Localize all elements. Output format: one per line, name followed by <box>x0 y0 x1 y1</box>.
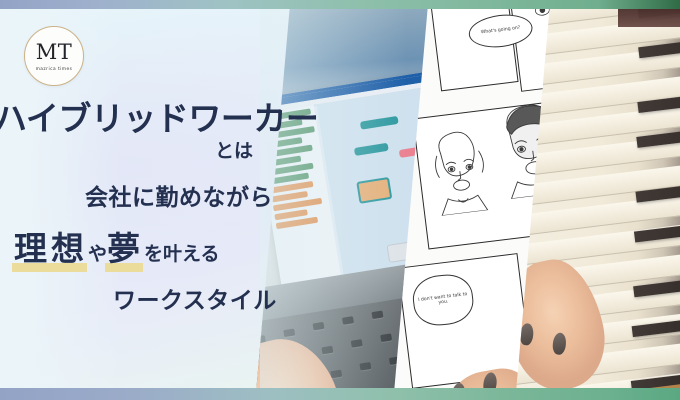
highlight-yume: 夢 <box>107 222 144 270</box>
page-title: ハイブリッドワーカー <box>0 92 324 140</box>
banner-canvas: What's going on? I don't want to talk to… <box>0 0 680 400</box>
page-title-suffix: とは <box>215 136 253 163</box>
subcopy-line-2: 理想や夢を叶える <box>14 222 219 270</box>
brand-logo[interactable]: MT mazrica times <box>24 26 84 86</box>
speech-bubble-bottom-text: I don't want to talk to you. <box>416 292 469 309</box>
bottom-color-band <box>0 388 680 400</box>
subcopy-kanaeru: を叶える <box>144 243 219 265</box>
logo-monogram: MT <box>36 42 73 63</box>
subcopy-line-1: 会社に勤めながら <box>85 178 273 212</box>
top-right-dark-strip <box>618 9 680 27</box>
subcopy-ya: や <box>88 243 107 265</box>
speech-bubble-top-text: What's going on? <box>481 26 521 36</box>
top-color-band <box>0 0 680 9</box>
text-content: MT mazrica times ハイブリッドワーカー とは 会社に勤めながら … <box>0 0 330 400</box>
fingernail <box>551 332 566 355</box>
highlight-riso: 理想 <box>14 222 88 270</box>
logo-subtitle: mazrica times <box>36 67 73 72</box>
subcopy-line-3: ワークスタイル <box>113 281 277 315</box>
fingernail <box>519 323 534 346</box>
